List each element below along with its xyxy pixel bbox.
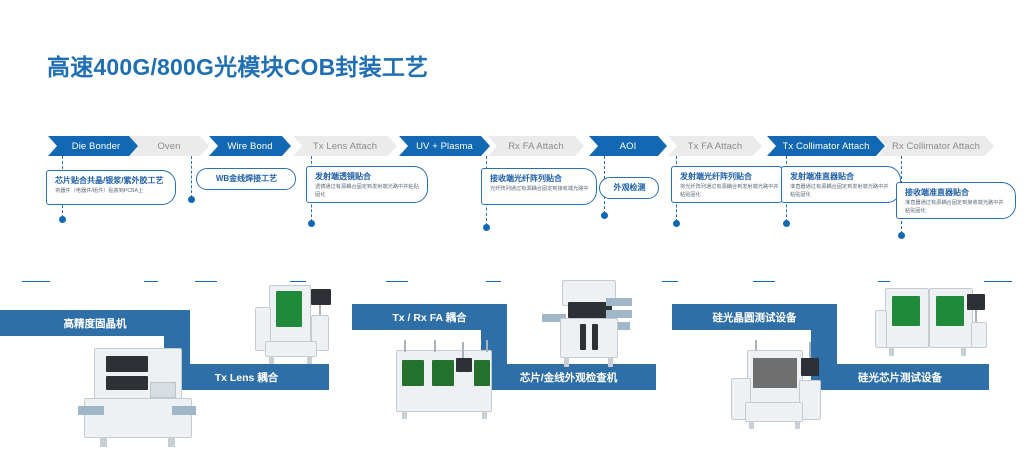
flow-step-rx-fa-attach[interactable]: Rx FA Attach — [488, 136, 584, 156]
equipment-label-text: Tx / Rx FA 耦合 — [392, 310, 466, 325]
flow-step-uv-plasma[interactable]: UV + Plasma — [399, 136, 490, 156]
callout-body: 透镜通过有源耦合固定到发射端光路中并粘贴固化 — [315, 184, 420, 199]
callout-title: 接收端光纤阵列贴合 — [490, 174, 589, 184]
machine-image-3 — [390, 340, 500, 440]
dropper-dot-rx-collimator — [898, 232, 905, 239]
callout-body: 准直器通过有源耦合固定到发射端光路中并粘贴固化 — [790, 184, 893, 199]
callout-body: 准直器通过有源耦合固定到接收端光路中并粘贴固化 — [905, 200, 1008, 215]
flow-step-tx-collimator-attach[interactable]: Tx Collimator Attach — [767, 136, 885, 156]
flow-step-aoi[interactable]: AOI — [589, 136, 667, 156]
dropper-dot-wire-bond — [188, 196, 195, 203]
callout-title: 发射端光纤阵列贴合 — [680, 172, 783, 182]
callout-title: 芯片贴合共晶/银浆/紫外胶工艺 — [55, 176, 168, 186]
equipment-label-1[interactable]: 高精度固晶机 — [0, 310, 190, 336]
page-title: 高速400G/800G光模块COB封装工艺 — [47, 48, 428, 82]
flow-step-oven[interactable]: Oven — [129, 136, 209, 156]
flow-step-wire-bond[interactable]: Wire Bond — [209, 136, 291, 156]
callout-body: 将光纤阵列通过有源耦合到发射端光路中并粘贴固化 — [680, 184, 783, 199]
machine-image-2 — [255, 285, 333, 370]
machine-image-6 — [875, 280, 990, 380]
flow-step-tx-fa-attach[interactable]: Tx FA Attach — [668, 136, 762, 156]
callout-die-bonder[interactable]: 芯片贴合共晶/银浆/紫外胶工艺 将器件（电器件/组件）贴装到PCBA上 — [46, 170, 176, 205]
machine-image-5 — [725, 340, 830, 445]
callout-title: 发射端透镜贴合 — [315, 172, 420, 182]
dropper-dot-tx-lens — [308, 220, 315, 227]
callout-title: 外观检测 — [614, 183, 646, 193]
dropper-dot-tx-collimator — [783, 220, 790, 227]
equipment-section: 高精度固晶机 Tx Lens 耦合 Tx / Rx FA 耦合 芯片/金线外观检… — [0, 265, 1034, 475]
dropper-dot-die-bonder — [59, 216, 66, 223]
flow-step-tx-lens-attach[interactable]: Tx Lens Attach — [293, 136, 397, 156]
equipment-label-text: 硅光晶圆测试设备 — [713, 310, 797, 325]
dropper-dot-tx-fa — [673, 220, 680, 227]
callout-rx-collimator-attach[interactable]: 接收端准直器贴合 准直器通过有源耦合固定到接收端光路中并粘贴固化 — [896, 182, 1016, 219]
dropper-dot-aoi — [601, 212, 608, 219]
machine-image-1 — [76, 340, 201, 455]
dropper-wire-bond — [191, 156, 192, 198]
callout-body: 将器件（电器件/组件）贴装到PCBA上 — [55, 188, 168, 196]
equipment-label-text: Tx Lens 耦合 — [215, 370, 279, 385]
callout-tx-collimator-attach[interactable]: 发射端准直器贴合 准直器通过有源耦合固定到发射端光路中并粘贴固化 — [781, 166, 901, 203]
equipment-label-text: 高精度固晶机 — [64, 316, 127, 331]
flow-step-rx-collimator-attach[interactable]: Rx Collimator Attach — [878, 136, 994, 156]
callout-wire-bond[interactable]: WB金线焊接工艺 — [196, 168, 296, 190]
callout-title: 接收端准直器贴合 — [905, 188, 1008, 198]
callout-rx-fa-attach[interactable]: 接收端光纤阵列贴合 光纤阵列通过有源耦合固定到接收端光路中 — [481, 168, 597, 205]
dropper-dot-rx-fa — [483, 224, 490, 231]
machine-image-4 — [540, 280, 640, 385]
callout-tx-lens-attach[interactable]: 发射端透镜贴合 透镜通过有源耦合固定到发射端光路中并粘贴固化 — [306, 166, 428, 203]
flow-step-die-bonder[interactable]: Die Bonder — [48, 136, 144, 156]
callout-tx-fa-attach[interactable]: 发射端光纤阵列贴合 将光纤阵列通过有源耦合到发射端光路中并粘贴固化 — [671, 166, 791, 203]
callout-body: 光纤阵列通过有源耦合固定到接收端光路中 — [490, 186, 589, 194]
process-flow: Die Bonder Oven Wire Bond Tx Lens Attach… — [0, 136, 1034, 158]
callout-title: WB金线焊接工艺 — [216, 174, 277, 184]
callout-title: 发射端准直器贴合 — [790, 172, 893, 182]
callout-aoi[interactable]: 外观检测 — [599, 177, 659, 199]
